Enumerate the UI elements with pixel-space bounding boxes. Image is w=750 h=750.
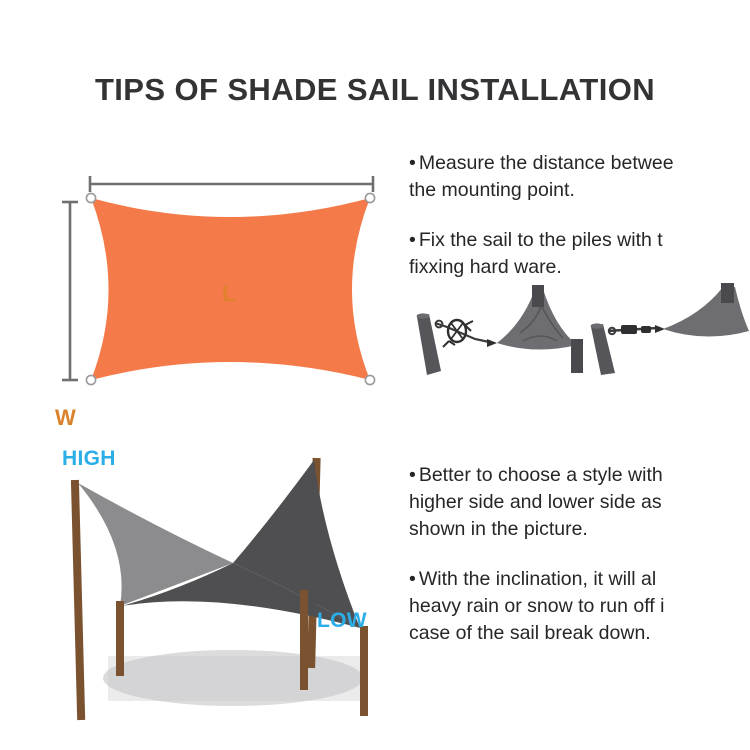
bottom-tips-list: •Better to choose a style with higher si… [409, 462, 750, 652]
turnbuckle-icon [621, 325, 637, 334]
high-side-label: HIGH [62, 448, 116, 469]
hardware-assembly-left [417, 285, 583, 375]
tip-line-text: Fix the sail to the piles with t [419, 229, 663, 251]
post-icon [721, 283, 734, 303]
bullet-icon: • [409, 566, 416, 593]
tip-line-text: higher side and lower side as [409, 489, 750, 516]
length-dimension-label: L [222, 283, 235, 305]
tip-line-text: heavy rain or snow to run off i [409, 593, 750, 620]
low-side-label: LOW [317, 610, 367, 631]
tip-line-text: case of the sail break down. [409, 620, 750, 647]
tip-line-text: Better to choose a style with [419, 464, 663, 486]
bullet-icon: • [409, 150, 416, 177]
post-icon [300, 590, 308, 690]
post-icon [116, 601, 124, 676]
tip-item: •Fix the sail to the piles with t fixxin… [409, 227, 750, 280]
tip-line-text: fixxing hard ware. [409, 254, 750, 280]
grommet-icon [365, 375, 374, 384]
tip-line-text: With the inclination, it will al [419, 568, 656, 590]
bullet-icon: • [409, 227, 416, 254]
grommet-icon [86, 193, 95, 202]
length-dimension-line [90, 176, 373, 192]
shackle-icon [487, 339, 497, 347]
grommet-icon [86, 375, 95, 384]
bullet-icon: • [409, 462, 416, 489]
sail-corner-shape [663, 287, 749, 337]
width-dimension-line [62, 202, 78, 380]
grommet-icon [365, 193, 374, 202]
page-title: TIPS OF SHADE SAIL INSTALLATION [0, 72, 750, 108]
top-tips-list: •Measure the distance betwee the mountin… [409, 150, 750, 280]
hardware-assembly-right [591, 283, 749, 375]
tip-line-text: the mounting point. [409, 177, 750, 204]
tip-line-text: shown in the picture. [409, 516, 750, 543]
infographic-page: TIPS OF SHADE SAIL INSTALLATION [0, 0, 750, 750]
tip-item: •Better to choose a style with higher si… [409, 462, 750, 543]
width-dimension-label: W [55, 407, 76, 429]
tip-line-text: Measure the distance betwee [419, 152, 674, 174]
hardware-illustrations [405, 283, 750, 375]
tip-item: •Measure the distance betwee the mountin… [409, 150, 750, 204]
post-icon [71, 480, 85, 720]
post-icon [571, 339, 583, 373]
inclined-canopy-diagram [38, 438, 413, 738]
post-icon [360, 626, 368, 716]
rectangular-sail-diagram [48, 140, 398, 400]
post-icon [532, 285, 544, 307]
tip-item: •With the inclination, it will al heavy … [409, 566, 750, 647]
